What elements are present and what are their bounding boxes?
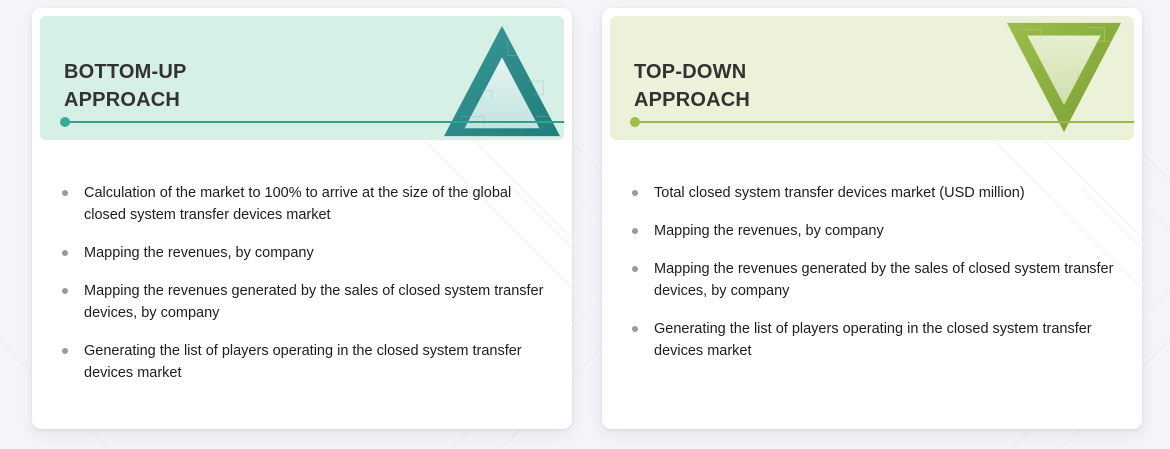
bullet-dot-icon [62, 190, 68, 196]
card-title-bottom-up: BOTTOM-UP APPROACH [64, 58, 187, 114]
header-rule-top-down [634, 121, 1134, 123]
bullet-list-top-down: Total closed system transfer devices mar… [602, 140, 1142, 362]
list-item-text: Mapping the revenues, by company [654, 220, 884, 242]
card-top-down: TOP-DOWN APPROACH Total closed system tr… [602, 8, 1142, 429]
bullet-dot-icon [62, 348, 68, 354]
bullet-dot-icon [62, 288, 68, 294]
bullet-dot-icon [632, 190, 638, 196]
list-item: Generating the list of players operating… [628, 318, 1116, 362]
list-item-text: Generating the list of players operating… [654, 318, 1116, 362]
list-item: Mapping the revenues generated by the sa… [58, 280, 546, 324]
header-dot-top-down [630, 117, 640, 127]
list-item-text: Calculation of the market to 100% to arr… [84, 182, 546, 226]
list-item-text: Mapping the revenues generated by the sa… [84, 280, 546, 324]
bullet-dot-icon [62, 250, 68, 256]
list-item: Total closed system transfer devices mar… [628, 182, 1116, 204]
list-item-text: Mapping the revenues, by company [84, 242, 314, 264]
list-item: Generating the list of players operating… [58, 340, 546, 384]
card-header-top-down: TOP-DOWN APPROACH [610, 16, 1134, 140]
header-rule-bottom-up [64, 121, 564, 123]
list-item: Mapping the revenues, by company [58, 242, 546, 264]
bullet-dot-icon [632, 326, 638, 332]
card-title-top-down: TOP-DOWN APPROACH [634, 58, 750, 114]
bullet-dot-icon [632, 228, 638, 234]
triangle-down-icon [1006, 20, 1122, 134]
list-item-text: Total closed system transfer devices mar… [654, 182, 1025, 204]
list-item: Mapping the revenues, by company [628, 220, 1116, 242]
header-dot-bottom-up [60, 117, 70, 127]
cards-container: BOTTOM-UP APPROACH Calculation of the ma… [0, 0, 1170, 449]
bullet-list-bottom-up: Calculation of the market to 100% to arr… [32, 140, 572, 384]
card-header-bottom-up: BOTTOM-UP APPROACH [40, 16, 564, 140]
list-item: Mapping the revenues generated by the sa… [628, 258, 1116, 302]
list-item-text: Generating the list of players operating… [84, 340, 546, 384]
card-bottom-up: BOTTOM-UP APPROACH Calculation of the ma… [32, 8, 572, 429]
list-item-text: Mapping the revenues generated by the sa… [654, 258, 1116, 302]
bullet-dot-icon [632, 266, 638, 272]
list-item: Calculation of the market to 100% to arr… [58, 182, 546, 226]
